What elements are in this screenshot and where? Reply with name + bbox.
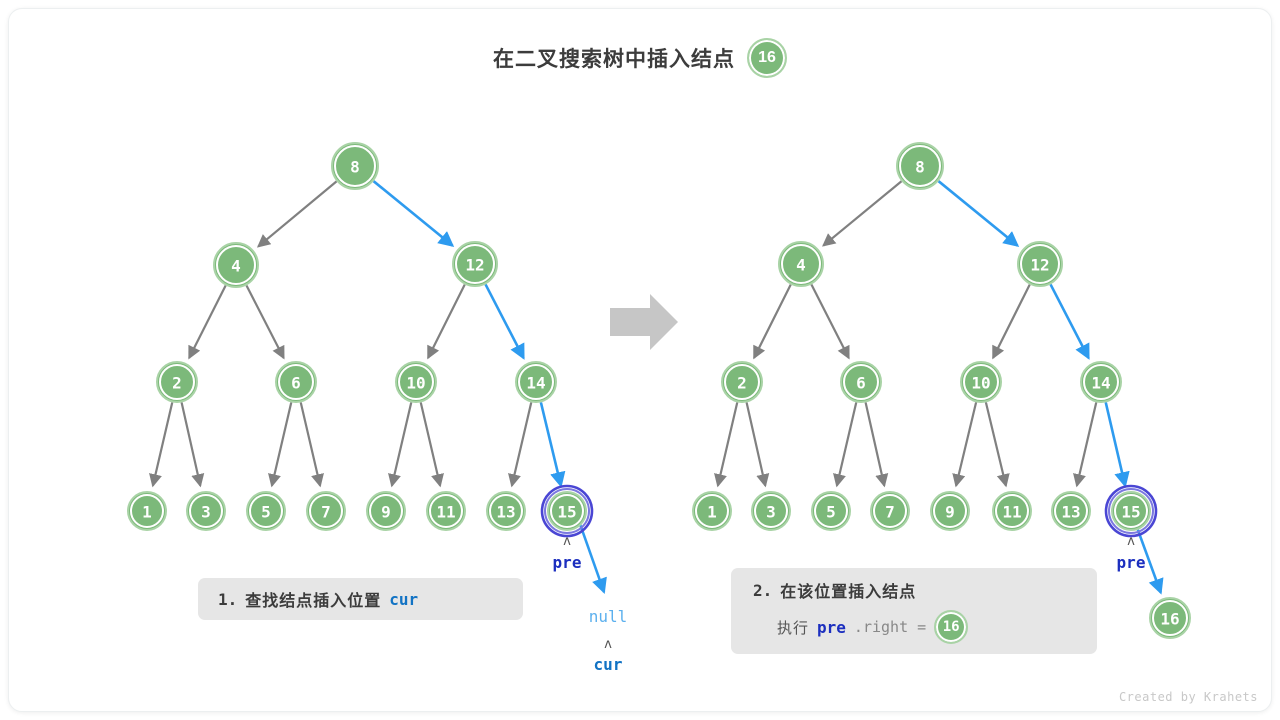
caption-step-1-number: 1. — [218, 590, 237, 609]
tree-edge — [182, 402, 201, 485]
tree-node[interactable]: 7 — [871, 492, 909, 530]
node-label: 15 — [557, 503, 576, 522]
node-label: 8 — [915, 158, 925, 177]
null-label: null — [589, 607, 628, 626]
tree-edge — [392, 402, 411, 485]
tree-edge — [421, 402, 440, 485]
tree-node[interactable]: 12 — [1018, 242, 1062, 286]
tree-edge — [747, 402, 766, 485]
tree-edge — [301, 402, 320, 485]
tree-node[interactable]: 3 — [752, 492, 790, 530]
node-label: 11 — [436, 503, 455, 522]
node-label: 3 — [201, 503, 211, 522]
caption-step-1: 1. 查找结点插入位置 cur — [198, 578, 523, 620]
caption-step-2-line2: 执行 pre .right = 16 — [753, 610, 1075, 644]
tree-edge — [189, 286, 225, 358]
node-label: 10 — [971, 374, 990, 393]
tree-edge — [811, 285, 848, 358]
tree-node[interactable]: 8 — [897, 143, 943, 189]
node-label: 6 — [856, 374, 866, 393]
node-label: 14 — [526, 374, 545, 393]
tree-edge — [258, 181, 336, 246]
tree-edge — [486, 284, 524, 358]
caption-step-2-verb: 执行 — [777, 617, 809, 638]
tree-node[interactable]: 1 — [128, 492, 166, 530]
tree-edge — [1106, 402, 1125, 485]
node-label: 7 — [321, 503, 331, 522]
tree-node[interactable]: 15 — [542, 486, 592, 536]
node-label: 5 — [826, 503, 836, 522]
tree-node[interactable]: 14 — [516, 362, 556, 402]
tree-node[interactable]: 8 — [332, 143, 378, 189]
credit-text: Created by Krahets — [1119, 690, 1258, 704]
node-label: 7 — [885, 503, 895, 522]
node-label: 14 — [1091, 374, 1110, 393]
tree-edge — [246, 285, 283, 358]
tree-edge — [1051, 284, 1089, 358]
right-tree-nodes: 84122610141357911131516 — [693, 143, 1190, 638]
node-label: 1 — [707, 503, 717, 522]
tree-node[interactable]: 11 — [993, 492, 1031, 530]
node-label: 1 — [142, 503, 152, 522]
tree-node[interactable]: 1 — [693, 492, 731, 530]
tree-edge — [956, 402, 976, 485]
tree-node[interactable]: 10 — [961, 362, 1001, 402]
node-label: 5 — [261, 503, 271, 522]
tree-node[interactable]: 4 — [214, 243, 258, 287]
node-label: 4 — [796, 256, 806, 275]
cur-label: cur — [594, 655, 623, 674]
diagram-canvas: 在二叉搜索树中插入结点 16 841226101413579111315 ʌpr… — [0, 0, 1280, 720]
pointer-caret: ʌ — [563, 534, 571, 549]
node-label: 8 — [350, 158, 360, 177]
tree-edge — [541, 402, 561, 485]
caption-step-2-badge: 16 — [934, 610, 968, 644]
tree-edge — [1077, 402, 1096, 485]
node-label: 6 — [291, 374, 301, 393]
node-label: 12 — [465, 256, 484, 275]
caption-step-2-line1: 2. 在该位置插入结点 — [753, 578, 1075, 602]
node-label: 2 — [172, 374, 182, 393]
node-label: 9 — [945, 503, 955, 522]
tree-node[interactable]: 16 — [1150, 598, 1190, 638]
caption-step-2-number: 2. — [753, 581, 772, 600]
node-label: 12 — [1030, 256, 1049, 275]
tree-node[interactable]: 15 — [1106, 486, 1156, 536]
tree-node[interactable]: 12 — [453, 242, 497, 286]
pre-label: pre — [553, 553, 582, 572]
tree-edge — [754, 285, 791, 358]
node-label: 2 — [737, 374, 747, 393]
caption-step-2: 2. 在该位置插入结点 执行 pre .right = 16 — [731, 568, 1097, 654]
tree-edge — [823, 181, 901, 245]
tree-node[interactable]: 6 — [276, 362, 316, 402]
transition-block-arrow — [610, 294, 678, 350]
tree-node[interactable]: 2 — [722, 362, 762, 402]
tree-node[interactable]: 5 — [247, 492, 285, 530]
node-label: 16 — [1160, 610, 1179, 629]
tree-edge — [272, 402, 291, 485]
caption-step-2-text: 在该位置插入结点 — [780, 578, 916, 602]
tree-node[interactable]: 3 — [187, 492, 225, 530]
caption-step-2-pre: pre — [817, 618, 846, 637]
tree-edge — [837, 402, 856, 485]
null-edge — [580, 524, 604, 592]
caption-step-1-text: 查找结点插入位置 — [245, 587, 381, 611]
tree-node[interactable]: 4 — [779, 242, 823, 286]
node-label: 3 — [766, 503, 776, 522]
caption-step-1-code: cur — [389, 590, 418, 609]
node-label: 15 — [1121, 503, 1140, 522]
node-label: 10 — [406, 374, 425, 393]
tree-node[interactable]: 5 — [812, 492, 850, 530]
tree-node[interactable]: 7 — [307, 492, 345, 530]
tree-node[interactable]: 9 — [367, 492, 405, 530]
tree-edge — [986, 402, 1006, 485]
tree-node[interactable]: 9 — [931, 492, 969, 530]
tree-node[interactable]: 13 — [1052, 492, 1090, 530]
pre-label: pre — [1117, 553, 1146, 572]
node-label: 13 — [496, 503, 515, 522]
tree-edge — [374, 181, 453, 245]
tree-edge — [153, 402, 172, 485]
tree-node[interactable]: 11 — [427, 492, 465, 530]
node-label: 13 — [1061, 503, 1080, 522]
tree-edge — [993, 285, 1030, 358]
tree-node[interactable]: 10 — [396, 362, 436, 402]
pointer-caret: ʌ — [1127, 534, 1135, 549]
tree-node[interactable]: 2 — [157, 362, 197, 402]
pointer-caret: ʌ — [604, 637, 612, 652]
tree-edge — [718, 402, 737, 485]
caption-step-2-expr: .right = — [854, 618, 926, 636]
tree-node[interactable]: 13 — [487, 492, 525, 530]
tree-node[interactable]: 14 — [1081, 362, 1121, 402]
node-label: 9 — [381, 503, 391, 522]
node-label: 4 — [231, 257, 241, 276]
tree-edge — [512, 402, 531, 485]
node-label: 11 — [1002, 503, 1021, 522]
tree-edge — [939, 181, 1018, 245]
tree-edge — [428, 285, 465, 358]
tree-edge — [866, 402, 885, 485]
tree-node[interactable]: 6 — [841, 362, 881, 402]
caption-step-1-line: 1. 查找结点插入位置 cur — [218, 587, 503, 611]
